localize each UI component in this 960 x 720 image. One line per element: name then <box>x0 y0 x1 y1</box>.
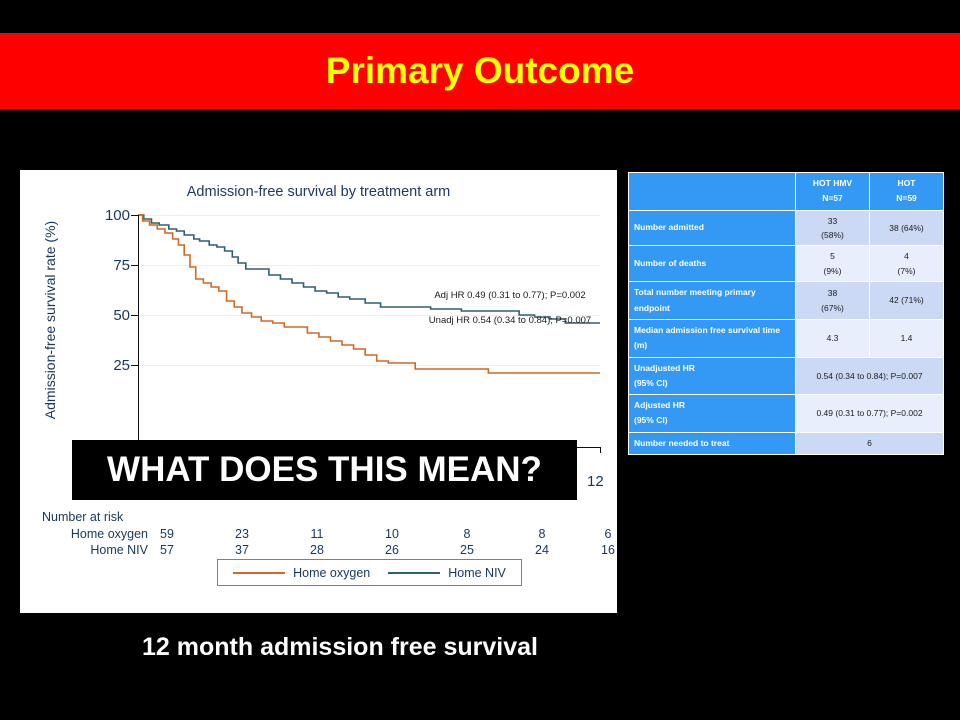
header-hot-line2: N=59 <box>875 191 938 206</box>
table-row: Number admitted 33 (58%) 38 (64%) <box>629 211 943 246</box>
y-tick-label-25: 25 <box>86 358 130 373</box>
unadjusted-hr-annotation: Unadj HR 0.54 (0.34 to 0.84); P=0.007 <box>410 315 610 326</box>
slide-canvas: Primary Outcome Admission-free survival … <box>0 0 960 720</box>
header-hot-hmv-line1: HOT HMV <box>801 176 864 191</box>
table-row: Total number meeting primary endpoint 38… <box>629 282 943 319</box>
risk-value: 8 <box>450 527 484 541</box>
table-row: Home oxygen 59 23 11 10 8 8 6 <box>42 527 617 543</box>
risk-row-label-home-niv: Home NIV <box>42 543 148 557</box>
cell-line1: 38 <box>801 286 864 300</box>
chart-title: Admission-free survival by treatment arm <box>20 184 617 200</box>
risk-value: 26 <box>375 543 409 557</box>
risk-value: 25 <box>450 543 484 557</box>
row-label-number-admitted: Number admitted <box>629 211 795 246</box>
x-tick-mark-12 <box>600 447 601 453</box>
y-tick-mark-25 <box>131 365 138 366</box>
title-banner: Primary Outcome <box>0 33 960 109</box>
risk-value: 11 <box>300 527 334 541</box>
cell-deaths-hmv: 5 (9%) <box>796 246 869 281</box>
y-tick-mark-75 <box>131 265 138 266</box>
y-tick-mark-100 <box>131 215 138 216</box>
cell-adjusted-hr-value: 0.49 (0.31 to 0.77); P=0.002 <box>796 395 943 432</box>
legend-swatch-icon <box>233 572 285 574</box>
hazard-ratio-annotations: Adj HR 0.49 (0.31 to 0.77); P=0.002 Unad… <box>410 290 610 340</box>
cell-median-hmv: 4.3 <box>796 320 869 357</box>
y-tick-labels: 100 75 50 25 <box>78 215 130 415</box>
table-row: Number of deaths 5 (9%) 4 (7%) <box>629 246 943 281</box>
header-hot-hmv: HOT HMV N=57 <box>796 173 869 210</box>
risk-value: 8 <box>525 527 559 541</box>
cell-deaths-hot: 4 (7%) <box>870 246 943 281</box>
kaplan-meier-chart-panel: Admission-free survival by treatment arm… <box>20 170 617 613</box>
cell-line2: (7%) <box>875 264 938 278</box>
table-row: Adjusted HR (95% CI) 0.49 (0.31 to 0.77)… <box>629 395 943 432</box>
risk-value: 23 <box>225 527 259 541</box>
table-row: Number needed to treat 6 <box>629 433 943 454</box>
risk-value: 28 <box>300 543 334 557</box>
row-label-line2: (95% CI) <box>634 413 790 428</box>
cell-line2: (58%) <box>801 228 864 242</box>
cell-nnt-value: 6 <box>796 433 943 454</box>
y-tick-mark-50 <box>131 315 138 316</box>
adjusted-hr-annotation: Adj HR 0.49 (0.31 to 0.77); P=0.002 <box>410 290 610 301</box>
cell-line2: (9%) <box>801 264 864 278</box>
cell-line1: 4 <box>875 249 938 263</box>
y-axis-line <box>138 215 139 447</box>
legend-label: Home oxygen <box>293 566 370 580</box>
row-label-number-of-deaths: Number of deaths <box>629 246 795 281</box>
header-blank-cell <box>629 173 795 210</box>
row-label-line1: Adjusted HR <box>634 398 790 413</box>
page-title: Primary Outcome <box>326 50 634 92</box>
risk-value: 6 <box>591 527 625 541</box>
y-axis-label: Admission-free survival rate (%) <box>42 215 58 425</box>
results-table: HOT HMV N=57 HOT N=59 Number admitted 33… <box>628 172 944 455</box>
header-hot-hmv-line2: N=57 <box>801 191 864 206</box>
legend-label: Home NIV <box>448 566 506 580</box>
risk-value: 57 <box>150 543 184 557</box>
row-label-number-needed-to-treat: Number needed to treat <box>629 433 795 454</box>
y-tick-label-50: 50 <box>86 308 130 323</box>
risk-value: 16 <box>591 543 625 557</box>
cell-median-hot: 1.4 <box>870 320 943 357</box>
y-tick-label-75: 75 <box>86 258 130 273</box>
y-tick-label-100: 100 <box>86 208 130 223</box>
cell-endpoint-hmv: 38 (67%) <box>796 282 869 319</box>
chart-legend: Home oxygen Home NIV <box>217 559 522 586</box>
table-row: Home NIV 57 37 28 26 25 24 16 <box>42 543 617 559</box>
risk-value: 59 <box>150 527 184 541</box>
header-hot-line1: HOT <box>875 176 938 191</box>
row-label-adjusted-hr: Adjusted HR (95% CI) <box>629 395 795 432</box>
cell-number-admitted-hmv: 33 (58%) <box>796 211 869 246</box>
slide-caption: 12 month admission free survival <box>0 633 680 662</box>
legend-swatch-icon <box>388 572 440 574</box>
risk-row-label-home-oxygen: Home oxygen <box>42 527 148 541</box>
cell-line1: 5 <box>801 249 864 263</box>
risk-value: 37 <box>225 543 259 557</box>
row-label-unadjusted-hr: Unadjusted HR (95% CI) <box>629 358 795 395</box>
overlay-callout-box: WHAT DOES THIS MEAN? <box>72 440 577 500</box>
row-label-line1: Unadjusted HR <box>634 361 790 376</box>
table-row: Unadjusted HR (95% CI) 0.54 (0.34 to 0.8… <box>629 358 943 395</box>
header-hot: HOT N=59 <box>870 173 943 210</box>
row-label-median-survival: Median admission free survival time (m) <box>629 320 795 357</box>
number-at-risk-caption: Number at risk <box>42 510 123 524</box>
legend-item-home-oxygen: Home oxygen <box>233 566 370 580</box>
cell-endpoint-hot: 42 (71%) <box>870 282 943 319</box>
table-row: Median admission free survival time (m) … <box>629 320 943 357</box>
legend-item-home-niv: Home NIV <box>388 566 506 580</box>
risk-value: 24 <box>525 543 559 557</box>
row-label-primary-endpoint: Total number meeting primary endpoint <box>629 282 795 319</box>
cell-line2: (67%) <box>801 301 864 315</box>
overlay-callout-text: WHAT DOES THIS MEAN? <box>107 450 542 490</box>
cell-unadjusted-hr-value: 0.54 (0.34 to 0.84); P=0.007 <box>796 358 943 395</box>
table-header-row: HOT HMV N=57 HOT N=59 <box>629 173 943 210</box>
row-label-line2: (95% CI) <box>634 376 790 391</box>
cell-line1: 33 <box>801 214 864 228</box>
cell-number-admitted-hot: 38 (64%) <box>870 211 943 246</box>
risk-value: 10 <box>375 527 409 541</box>
